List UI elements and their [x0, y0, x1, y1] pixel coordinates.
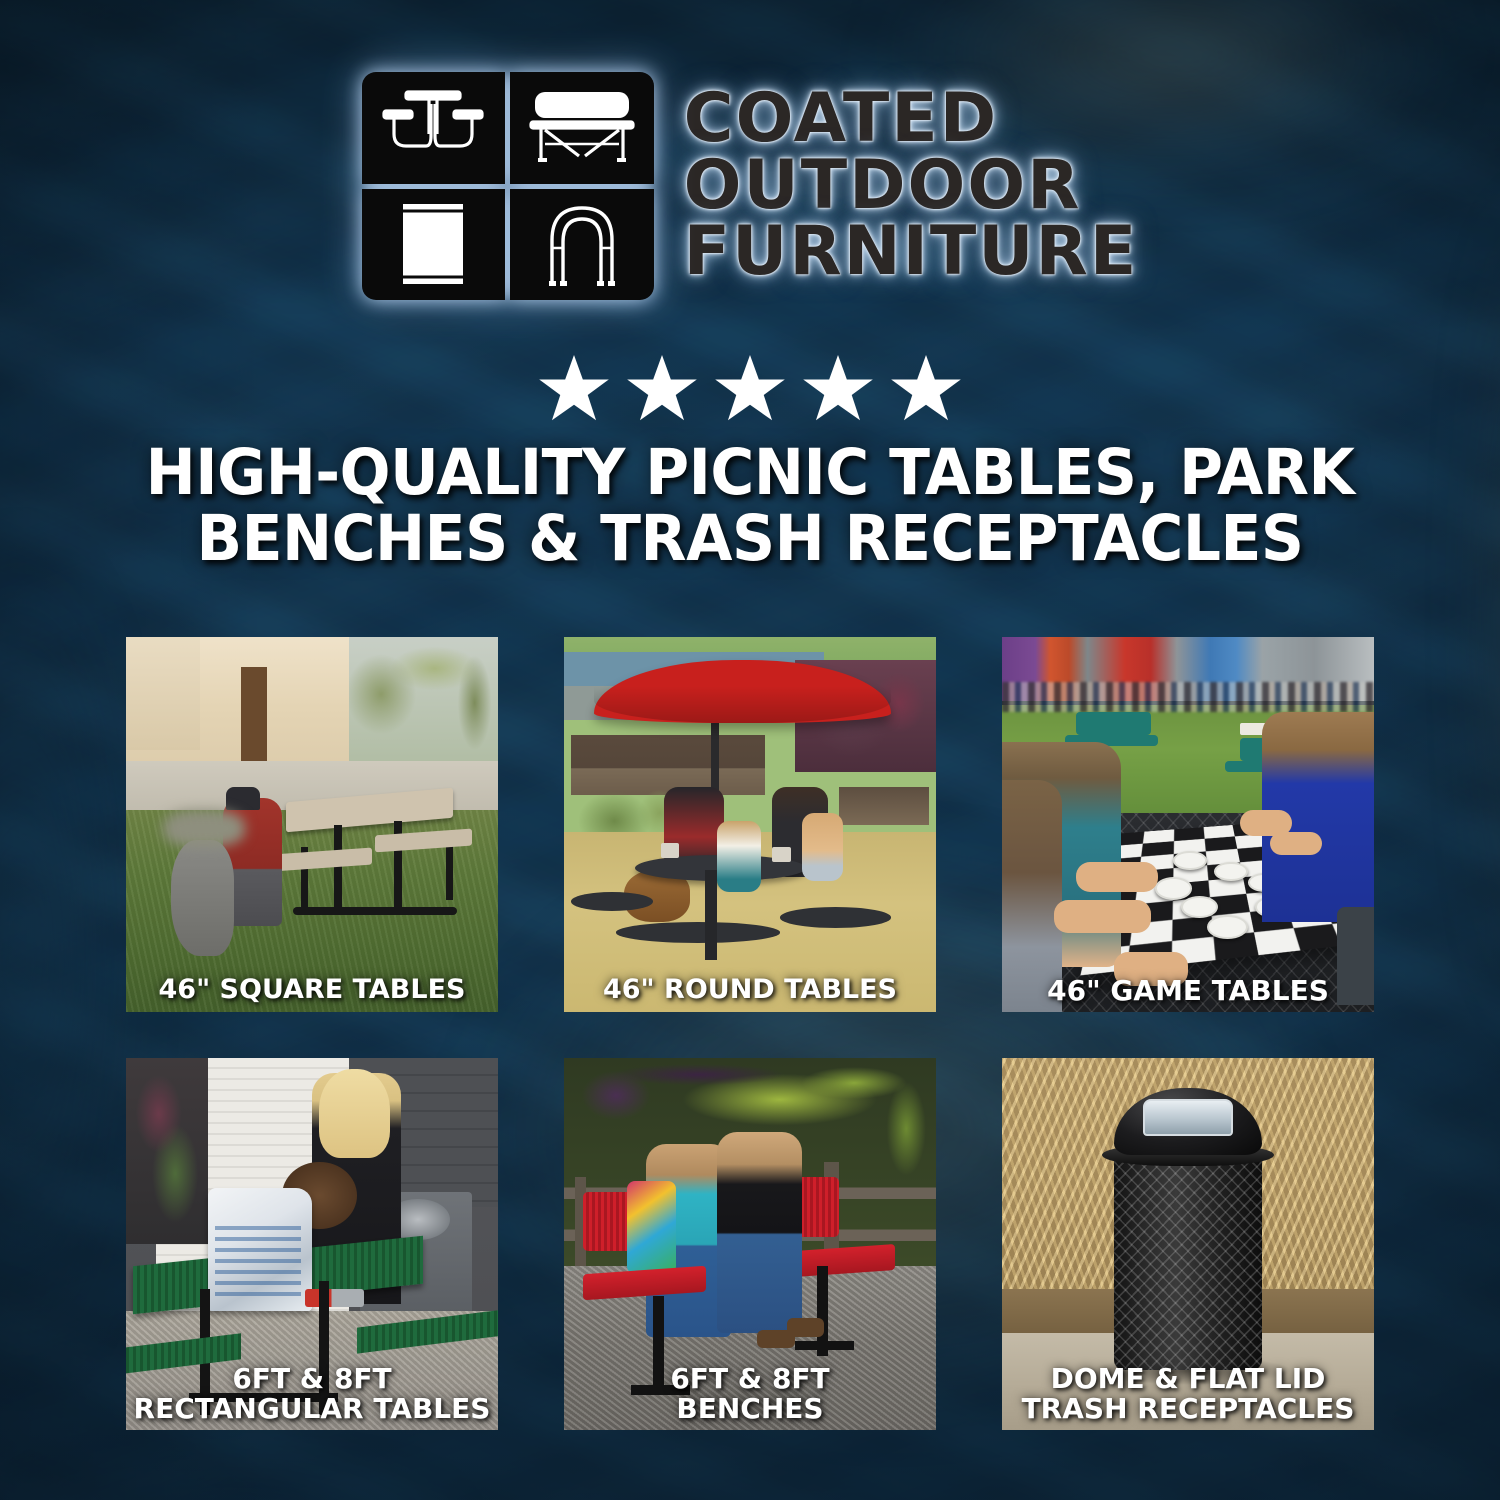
product-tile-game-tables[interactable]: 46" GAME TABLES — [1002, 637, 1374, 1012]
product-category-grid: 46" SQUARE TABLES — [126, 637, 1374, 1430]
product-photo-square-tables — [126, 637, 498, 1012]
bike-rack-icon — [510, 189, 654, 301]
star-icon — [536, 352, 612, 424]
star-icon — [624, 352, 700, 424]
brand-line-3: FURNITURE — [684, 220, 1139, 285]
product-photo-round-tables — [564, 637, 936, 1012]
product-tile-rectangular-tables[interactable]: 6FT & 8FT RECTANGULAR TABLES — [126, 1058, 498, 1430]
product-photo-game-tables — [1002, 637, 1374, 1012]
product-caption: DOME & FLAT LID TRASH RECEPTACLES — [1002, 1364, 1374, 1424]
trash-receptacle-icon — [362, 189, 506, 301]
product-tile-round-tables[interactable]: 46" ROUND TABLES — [564, 637, 936, 1012]
product-caption: 6FT & 8FT BENCHES — [564, 1364, 936, 1424]
brand-line-2: OUTDOOR — [684, 154, 1139, 219]
product-tile-trash-receptacles[interactable]: DOME & FLAT LID TRASH RECEPTACLES — [1002, 1058, 1374, 1430]
brand-line-1: COATED — [684, 87, 1139, 152]
brand-wordmark: COATED OUTDOOR FURNITURE — [684, 87, 1139, 285]
product-caption: 46" ROUND TABLES — [564, 975, 936, 1004]
star-rating — [0, 352, 1500, 424]
brand-header: COATED OUTDOOR FURNITURE — [0, 72, 1500, 300]
brand-logo-mark — [362, 72, 654, 300]
star-icon — [712, 352, 788, 424]
product-caption: 46" GAME TABLES — [1002, 976, 1374, 1006]
product-caption: 46" SQUARE TABLES — [126, 975, 498, 1004]
picnic-table-icon — [362, 72, 506, 184]
star-icon — [888, 352, 964, 424]
product-caption: 6FT & 8FT RECTANGULAR TABLES — [126, 1364, 498, 1424]
product-tile-square-tables[interactable]: 46" SQUARE TABLES — [126, 637, 498, 1012]
star-icon — [800, 352, 876, 424]
product-tile-benches[interactable]: 6FT & 8FT BENCHES — [564, 1058, 936, 1430]
bench-icon — [510, 72, 654, 184]
page-title: HIGH-QUALITY PICNIC TABLES, PARK BENCHES… — [38, 440, 1463, 571]
